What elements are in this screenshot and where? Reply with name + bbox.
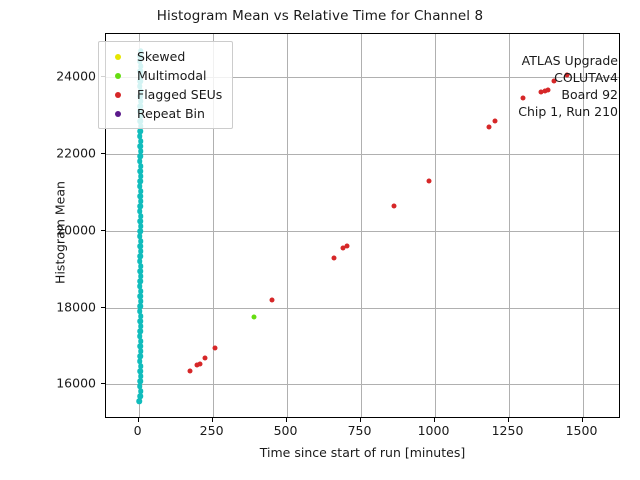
data-point	[138, 173, 144, 179]
gridline-horizontal	[106, 154, 619, 155]
data-point	[138, 373, 144, 379]
y-tick-mark	[101, 383, 105, 384]
data-point	[138, 313, 144, 319]
annotation-line-4: Chip 1, Run 210	[518, 103, 618, 120]
data-point	[138, 298, 144, 304]
x-tick-mark	[360, 418, 361, 422]
data-point	[138, 378, 144, 384]
x-tick-label: 500	[274, 423, 298, 438]
y-tick-mark	[101, 230, 105, 231]
data-point	[137, 283, 143, 289]
legend-label: Multimodal	[131, 68, 206, 83]
legend-label: Repeat Bin	[131, 106, 205, 121]
x-axis-label: Time since start of run [minutes]	[105, 445, 620, 460]
gridline-vertical	[287, 34, 288, 417]
legend-item-skewed[interactable]: Skewed	[105, 47, 222, 66]
data-point	[138, 238, 144, 244]
y-tick-label: 16000	[56, 376, 96, 391]
data-point	[252, 315, 257, 320]
data-point	[137, 394, 143, 400]
x-tick-label: 1250	[492, 423, 524, 438]
data-point	[138, 273, 144, 279]
data-point	[137, 233, 143, 239]
data-point	[137, 208, 143, 214]
data-point	[137, 183, 143, 189]
data-point	[137, 318, 143, 324]
data-point	[138, 223, 144, 229]
x-tick-label: 1000	[418, 423, 450, 438]
data-point	[138, 328, 144, 334]
data-point	[138, 138, 144, 144]
scatter-plot-figure: Histogram Mean vs Relative Time for Chan…	[0, 0, 640, 480]
data-point	[138, 253, 144, 259]
legend-item-repeat-bin[interactable]: Repeat Bin	[105, 104, 222, 123]
data-point	[137, 368, 143, 374]
data-point	[487, 125, 492, 130]
data-point	[137, 168, 143, 174]
data-point	[270, 297, 275, 302]
data-point	[138, 228, 144, 234]
data-point	[426, 179, 431, 184]
annotation-line-1: ATLAS Upgrade	[518, 52, 618, 69]
data-point	[138, 348, 144, 354]
data-point	[137, 243, 143, 249]
annotation-line-3: Board 92	[518, 86, 618, 103]
data-point	[137, 308, 143, 314]
legend-marker-icon	[105, 54, 131, 60]
legend-marker-icon	[105, 92, 131, 98]
data-point	[137, 293, 143, 299]
data-point	[138, 178, 144, 184]
y-tick-mark	[101, 307, 105, 308]
data-point	[188, 369, 193, 374]
data-point	[137, 343, 143, 349]
data-point	[331, 255, 336, 260]
data-point	[137, 133, 143, 139]
gridline-horizontal	[106, 231, 619, 232]
page-title: Histogram Mean vs Relative Time for Chan…	[0, 8, 640, 24]
data-point	[197, 362, 202, 367]
legend[interactable]: SkewedMultimodalFlagged SEUsRepeat Bin	[98, 41, 233, 129]
legend-label: Flagged SEUs	[131, 87, 222, 102]
data-point	[137, 158, 143, 164]
data-point	[212, 345, 217, 350]
data-point	[138, 198, 144, 204]
data-point	[137, 383, 143, 389]
gridline-vertical	[435, 34, 436, 417]
data-point	[137, 399, 143, 405]
gridline-vertical	[509, 34, 510, 417]
data-point	[137, 333, 143, 339]
data-point	[138, 288, 144, 294]
data-point	[138, 363, 144, 369]
data-point	[138, 303, 144, 309]
annotation-line-2: COLUTAv4	[518, 69, 618, 86]
data-point	[138, 338, 144, 344]
data-point	[138, 163, 144, 169]
y-tick-mark	[101, 153, 105, 154]
data-point	[138, 148, 144, 154]
legend-marker-icon	[105, 111, 131, 117]
y-axis-label: Histogram Mean	[53, 133, 68, 333]
data-point	[138, 248, 144, 254]
data-point	[138, 188, 144, 194]
data-point	[138, 388, 144, 394]
x-tick-mark	[434, 418, 435, 422]
data-point	[138, 263, 144, 269]
x-tick-label: 750	[348, 423, 372, 438]
data-point	[138, 278, 144, 284]
annotation-block: ATLAS UpgradeCOLUTAv4Board 92Chip 1, Run…	[518, 52, 618, 120]
x-tick-label: 1500	[566, 423, 598, 438]
legend-marker-icon	[105, 73, 131, 79]
data-point	[138, 128, 144, 134]
data-point	[137, 143, 143, 149]
data-point	[138, 153, 144, 159]
data-point	[138, 203, 144, 209]
legend-item-flagged-seus[interactable]: Flagged SEUs	[105, 85, 222, 104]
y-tick-label: 24000	[56, 69, 96, 84]
legend-label: Skewed	[131, 49, 185, 64]
data-point	[137, 218, 143, 224]
data-point	[492, 119, 497, 124]
x-tick-mark	[286, 418, 287, 422]
data-point	[138, 213, 144, 219]
data-point	[137, 268, 143, 274]
x-tick-label: 0	[134, 423, 142, 438]
x-tick-mark	[508, 418, 509, 422]
data-point	[203, 355, 208, 360]
gridline-horizontal	[106, 308, 619, 309]
gridline-horizontal	[106, 384, 619, 385]
x-tick-mark	[582, 418, 583, 422]
legend-item-multimodal[interactable]: Multimodal	[105, 66, 222, 85]
x-tick-mark	[138, 418, 139, 422]
data-point	[137, 358, 143, 364]
data-point	[137, 258, 143, 264]
x-tick-mark	[212, 418, 213, 422]
data-point	[138, 353, 144, 359]
data-point	[137, 193, 143, 199]
x-tick-label: 250	[200, 423, 224, 438]
gridline-vertical	[361, 34, 362, 417]
data-point	[138, 323, 144, 329]
data-point	[391, 203, 396, 208]
data-point	[344, 244, 349, 249]
